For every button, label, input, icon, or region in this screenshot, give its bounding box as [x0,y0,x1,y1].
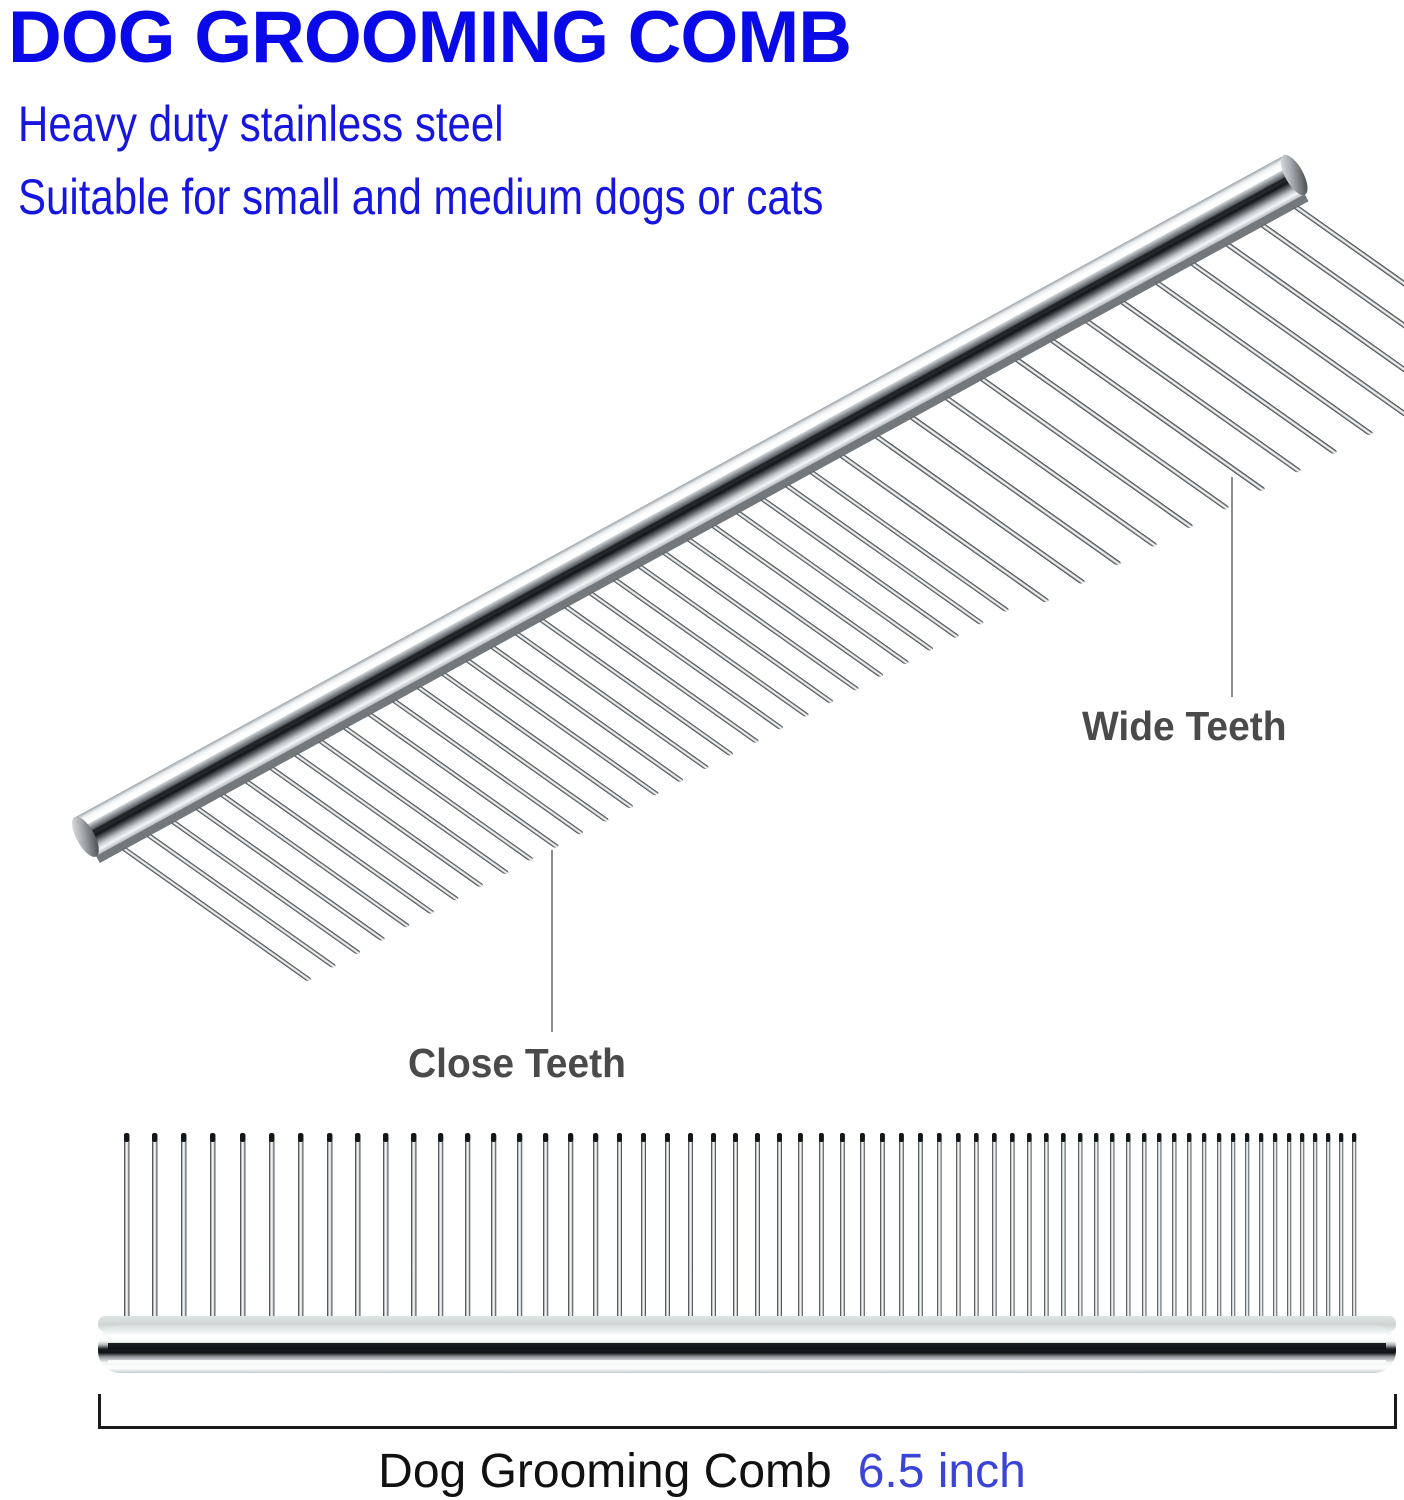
side-view-tooth-tips [124,1133,1356,1142]
dimension-caption-name: Dog Grooming Comb [378,1445,832,1498]
bracket-tick-left [98,1394,101,1428]
bracket-tick-right [1394,1394,1397,1428]
product-illustration [0,0,1404,1500]
close-teeth-leader-line [551,850,553,1032]
wide-teeth-leader-line [1231,477,1233,697]
dimension-bracket [98,1394,1397,1430]
wide-teeth-label: Wide Teeth [1082,703,1287,750]
bracket-baseline [98,1426,1397,1429]
dimension-caption: Dog Grooming Comb6.5 inch [0,1444,1404,1499]
dimension-caption-size: 6.5 inch [858,1445,1026,1498]
close-teeth-label: Close Teeth [408,1040,626,1087]
side-view-teeth [124,1133,1356,1329]
side-view-comb [98,1133,1396,1373]
angled-comb-teeth [121,205,1404,1004]
angled-comb [67,104,1404,1077]
infographic-canvas: DOG GROOMING COMB Heavy duty stainless s… [0,0,1404,1500]
